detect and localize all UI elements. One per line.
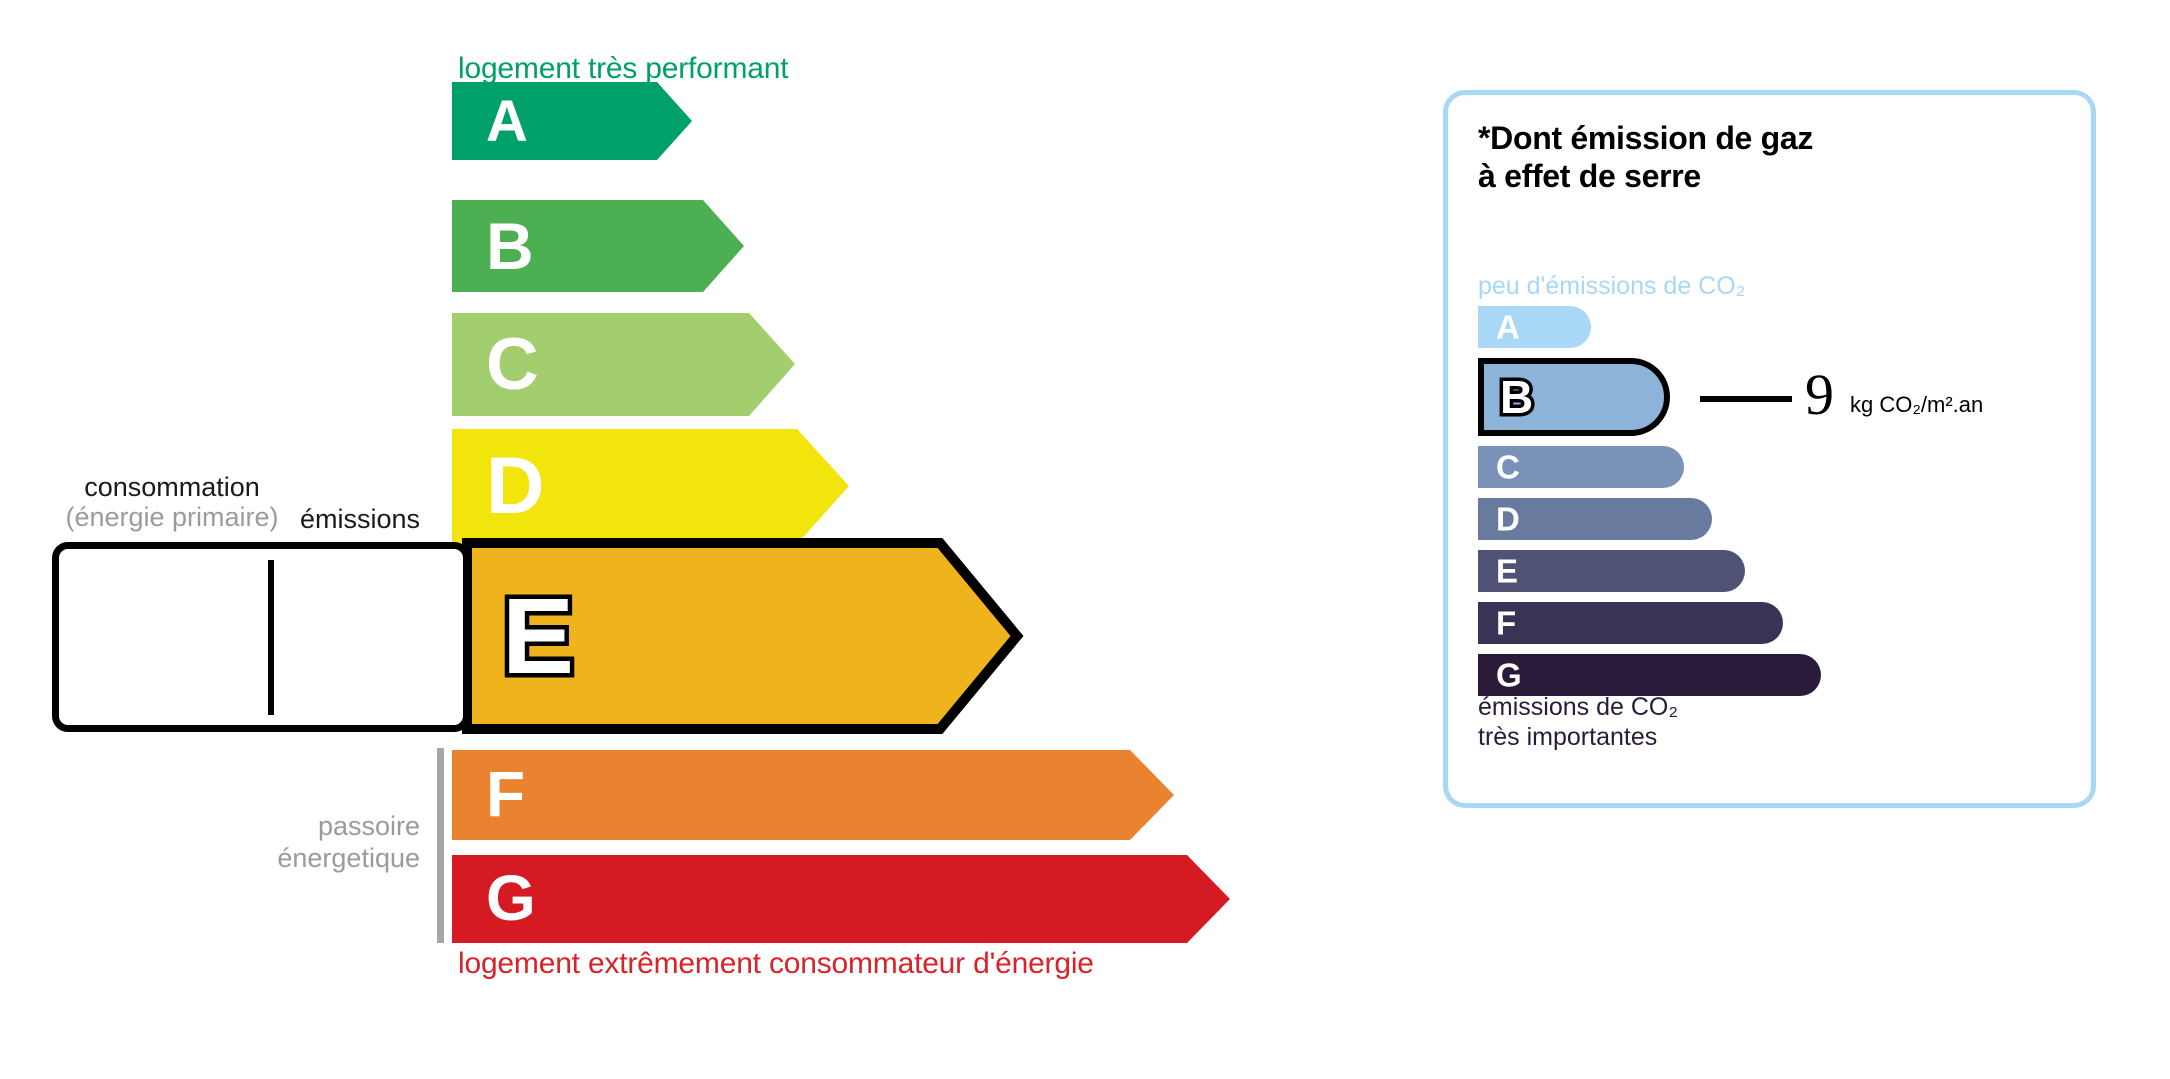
co2-panel-title: *Dont émission de gaz à effet de serre xyxy=(1478,120,1813,196)
co2-bar-C: C xyxy=(1478,446,1684,488)
co2-bar-B-letter: B xyxy=(1500,374,1533,420)
co2-bar-A: A xyxy=(1478,306,1591,348)
energy-bar-C: C xyxy=(452,313,795,416)
co2-top-caption: peu d'émissions de CO₂ xyxy=(1478,272,1745,301)
energy-bar-E: E xyxy=(462,538,1022,734)
energy-bar-F: F xyxy=(452,750,1174,840)
co2-bar-A-letter: A xyxy=(1496,311,1520,344)
consumption-label-group: consommation (énergie primaire) xyxy=(62,472,282,532)
co2-bar-G: G xyxy=(1478,654,1821,696)
passoire-divider xyxy=(437,748,444,943)
co2-bar-F-letter: F xyxy=(1496,607,1516,640)
co2-bar-F: F xyxy=(1478,602,1783,644)
co2-bar-C-letter: C xyxy=(1496,451,1520,484)
energy-top-caption: logement très performant xyxy=(458,52,788,86)
co2-unit: kg CO₂/m².an xyxy=(1850,392,1983,418)
energy-bar-D: D xyxy=(452,429,849,544)
energy-bar-D-letter: D xyxy=(486,446,545,527)
co2-leader-line xyxy=(1700,396,1792,402)
co2-bar-G-letter: G xyxy=(1496,659,1522,692)
co2-bar-E: E xyxy=(1478,550,1745,592)
co2-bar-B: B xyxy=(1478,358,1670,436)
dpe-label: logement très performant A B C xyxy=(0,0,2170,1079)
passoire-label: passoire énergetique xyxy=(250,810,420,875)
energy-bar-A: A xyxy=(452,82,692,160)
energy-bar-B: B xyxy=(452,200,744,292)
energy-bar-A-letter: A xyxy=(486,93,528,151)
co2-bar-D-letter: D xyxy=(1496,503,1520,536)
co2-bar-D: D xyxy=(1478,498,1712,540)
co2-bottom-caption: émissions de CO₂ très importantes xyxy=(1478,692,1678,752)
energy-bar-F-letter: F xyxy=(486,762,525,826)
consumption-label: consommation xyxy=(84,472,260,502)
emissions-label: émissions xyxy=(300,504,420,535)
energy-scale: logement très performant A B C xyxy=(0,0,1330,1079)
energy-bar-G-letter: G xyxy=(486,866,536,930)
energy-bar-G: G xyxy=(452,855,1230,943)
consumption-sublabel: (énergie primaire) xyxy=(62,502,282,532)
energy-bottom-caption: logement extrêmement consommateur d'éner… xyxy=(458,947,1094,981)
co2-bar-E-letter: E xyxy=(1496,555,1518,588)
energy-bar-C-letter: C xyxy=(486,328,539,401)
value-box-divider xyxy=(268,560,274,715)
value-box xyxy=(52,542,470,732)
energy-bar-E-letter: E xyxy=(502,582,574,690)
co2-value: 9 xyxy=(1805,366,1834,424)
energy-bar-B-letter: B xyxy=(486,213,534,279)
